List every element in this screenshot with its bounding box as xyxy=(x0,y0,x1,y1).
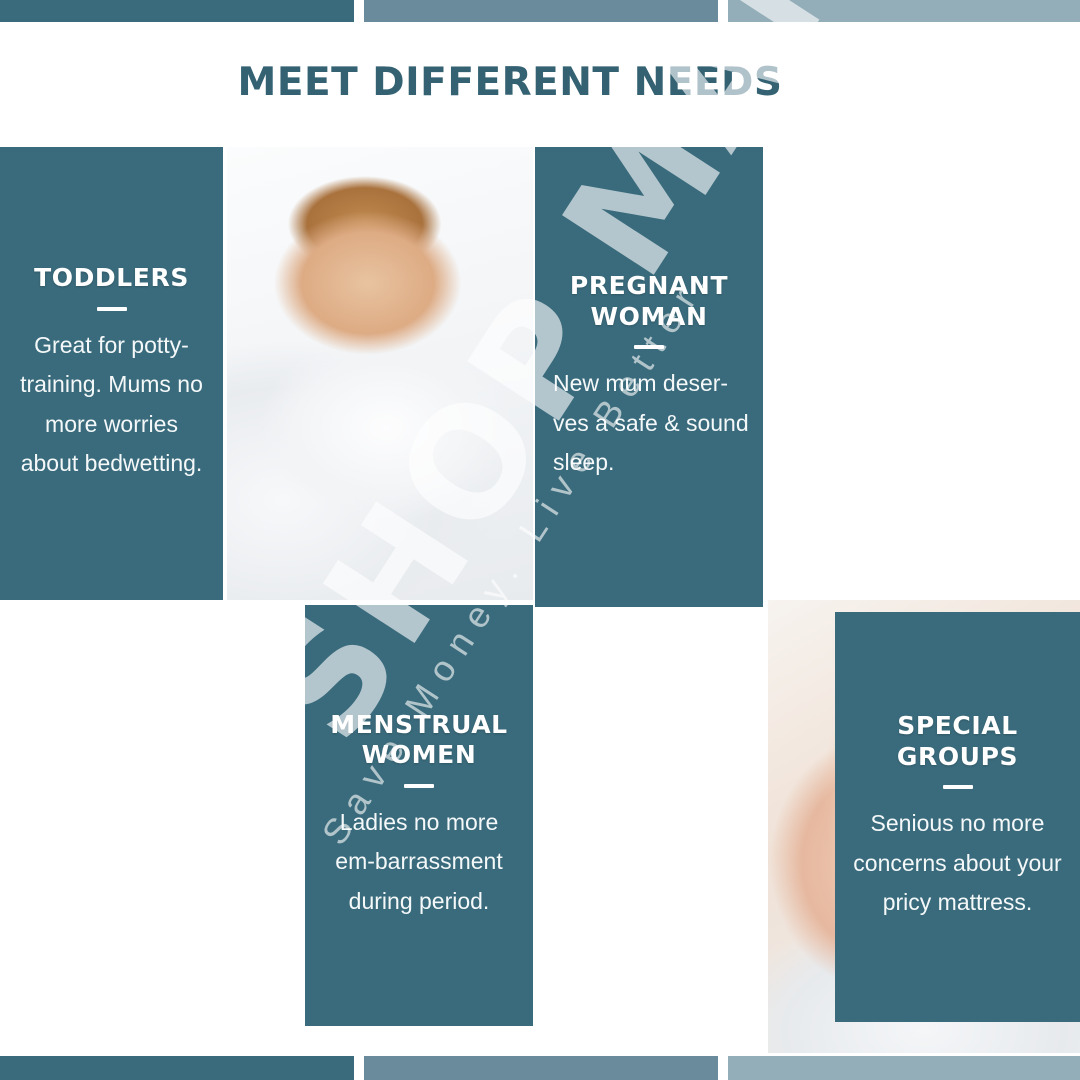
panel-menstrual-women-title: MENSTRUAL WOMEN xyxy=(305,710,533,771)
panel-pregnant-woman-divider xyxy=(634,345,664,349)
panel-menstrual-women-body: Ladies no more em-barrassment during per… xyxy=(305,803,533,922)
panel-special-groups-title: SPECIAL GROUPS xyxy=(835,711,1080,772)
panel-toddlers: TODDLERS Great for potty-training. Mums … xyxy=(0,147,223,600)
bottom-bar-segment-dark xyxy=(0,1056,354,1080)
panel-pregnant-woman-title: PREGNANT WOMAN xyxy=(535,271,763,332)
photo-baby-sleeping xyxy=(227,147,533,600)
panel-special-groups-body: Senious no more concerns about your pric… xyxy=(835,804,1080,923)
panel-special-groups: SPECIAL GROUPS Senious no more concerns … xyxy=(835,612,1080,1022)
panel-toddlers-title: TODDLERS xyxy=(0,263,223,294)
bottom-accent-bar xyxy=(0,1056,1080,1080)
feature-grid: TODDLERS Great for potty-training. Mums … xyxy=(0,0,1080,1080)
panel-toddlers-divider xyxy=(97,307,127,311)
panel-special-groups-divider xyxy=(943,785,973,789)
panel-toddlers-body: Great for potty-training. Mums no more w… xyxy=(0,326,223,484)
panel-menstrual-women: MENSTRUAL WOMEN Ladies no more em-barras… xyxy=(305,605,533,1026)
panel-pregnant-woman-body: New mum deser-ves a safe & sound sleep. xyxy=(535,364,763,483)
panel-pregnant-woman: PREGNANT WOMAN New mum deser-ves a safe … xyxy=(535,147,763,607)
panel-menstrual-women-divider xyxy=(404,784,434,788)
infographic-page: MEET DIFFERENT NEEDS TODDLERS Great for … xyxy=(0,0,1080,1080)
bottom-bar-segment-light xyxy=(728,1056,1080,1080)
bottom-bar-segment-mid xyxy=(364,1056,718,1080)
